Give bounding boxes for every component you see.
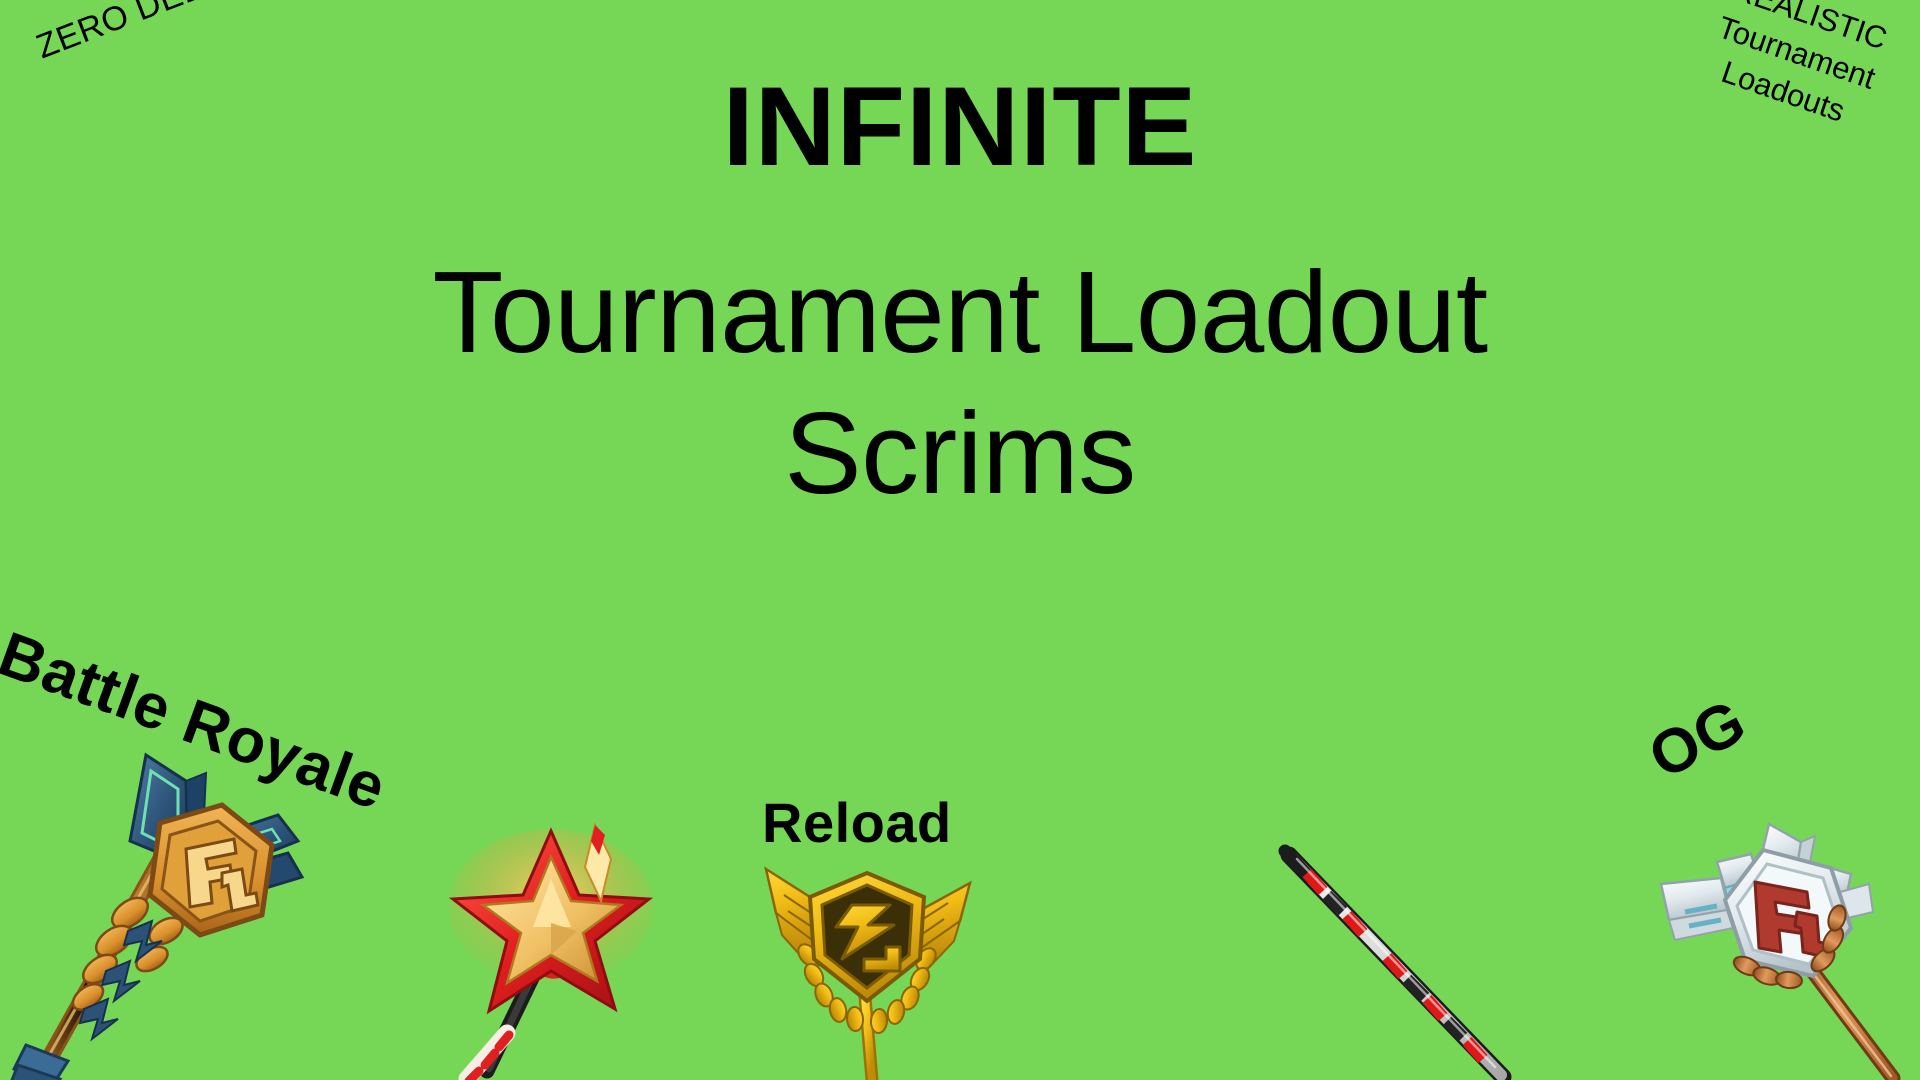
mode-label-og: OG: [1638, 686, 1757, 794]
pickaxe-reload-icon: [760, 855, 975, 1080]
pickaxe-battle-royale-icon: [10, 745, 330, 1080]
pickaxe-star-icon: [445, 815, 665, 1080]
poster-canvas: ZERO DELAY!!! REALISTIC Tournament Loado…: [0, 0, 1920, 1080]
zero-delay-callout: ZERO DELAY!!!: [30, 0, 276, 70]
page-subtitle: Tournament Loadout Scrims: [370, 186, 1550, 525]
headline-block: INFINITE Tournament Loadout Scrims: [0, 68, 1920, 525]
pickaxe-candy-cane-icon: [1275, 845, 1510, 1080]
mode-label-battle-royale: Battle Royale: [0, 618, 395, 824]
pickaxe-og-icon: [1655, 820, 1920, 1080]
mode-label-reload: Reload: [762, 790, 952, 855]
page-title: INFINITE: [0, 68, 1920, 186]
